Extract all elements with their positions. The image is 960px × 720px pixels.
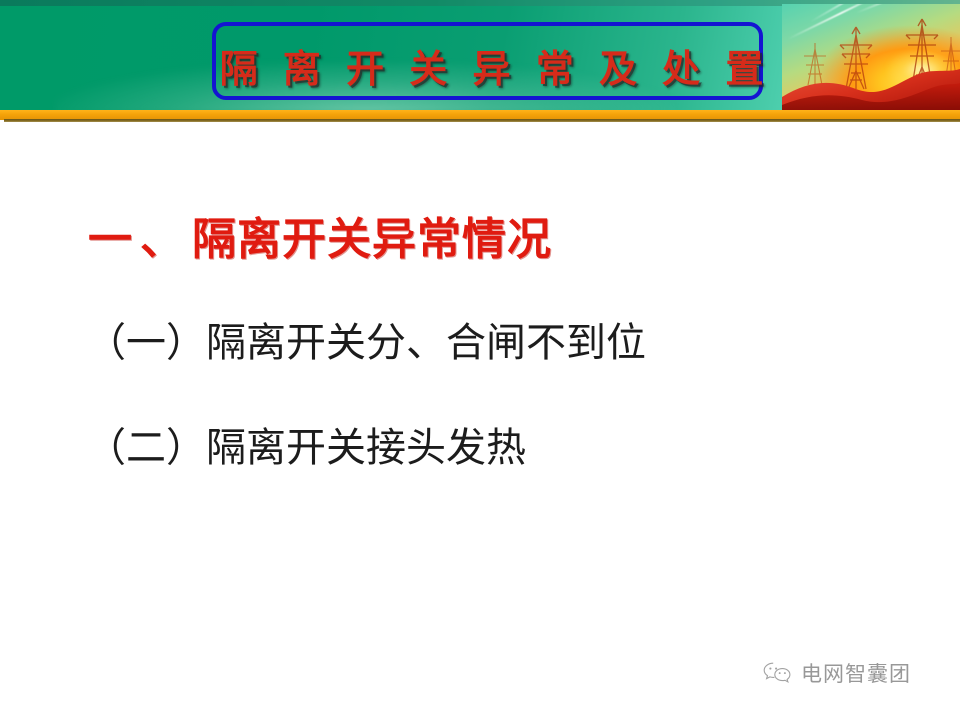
section-heading-number: 一、 xyxy=(88,214,192,265)
slide-title-box: 隔 离 开 关 异 常 及 处 置 xyxy=(212,22,763,100)
watermark-text: 电网智囊团 xyxy=(801,658,911,688)
slide-header-banner: 隔 离 开 关 异 常 及 处 置 xyxy=(0,0,960,122)
section-heading: 一、隔离开关异常情况 xyxy=(88,203,552,267)
presentation-slide: 隔 离 开 关 异 常 及 处 置 一、隔离开关异常情况 （一）隔离开关分、合闸… xyxy=(0,0,960,720)
bullet-item-2: （二）隔离开关接头发热 xyxy=(86,415,526,473)
watermark: 电网智囊团 xyxy=(762,658,911,688)
bullet-item-1: （一）隔离开关分、合闸不到位 xyxy=(86,310,646,368)
wechat-icon xyxy=(762,661,792,686)
slide-title: 隔 离 开 关 异 常 及 处 置 xyxy=(216,26,767,104)
section-heading-text: 隔离开关异常情况 xyxy=(192,214,552,265)
header-amber-bar-shadow xyxy=(4,119,960,122)
sunset-pylon-artwork xyxy=(782,4,960,113)
red-ribbon-wave xyxy=(782,67,960,113)
